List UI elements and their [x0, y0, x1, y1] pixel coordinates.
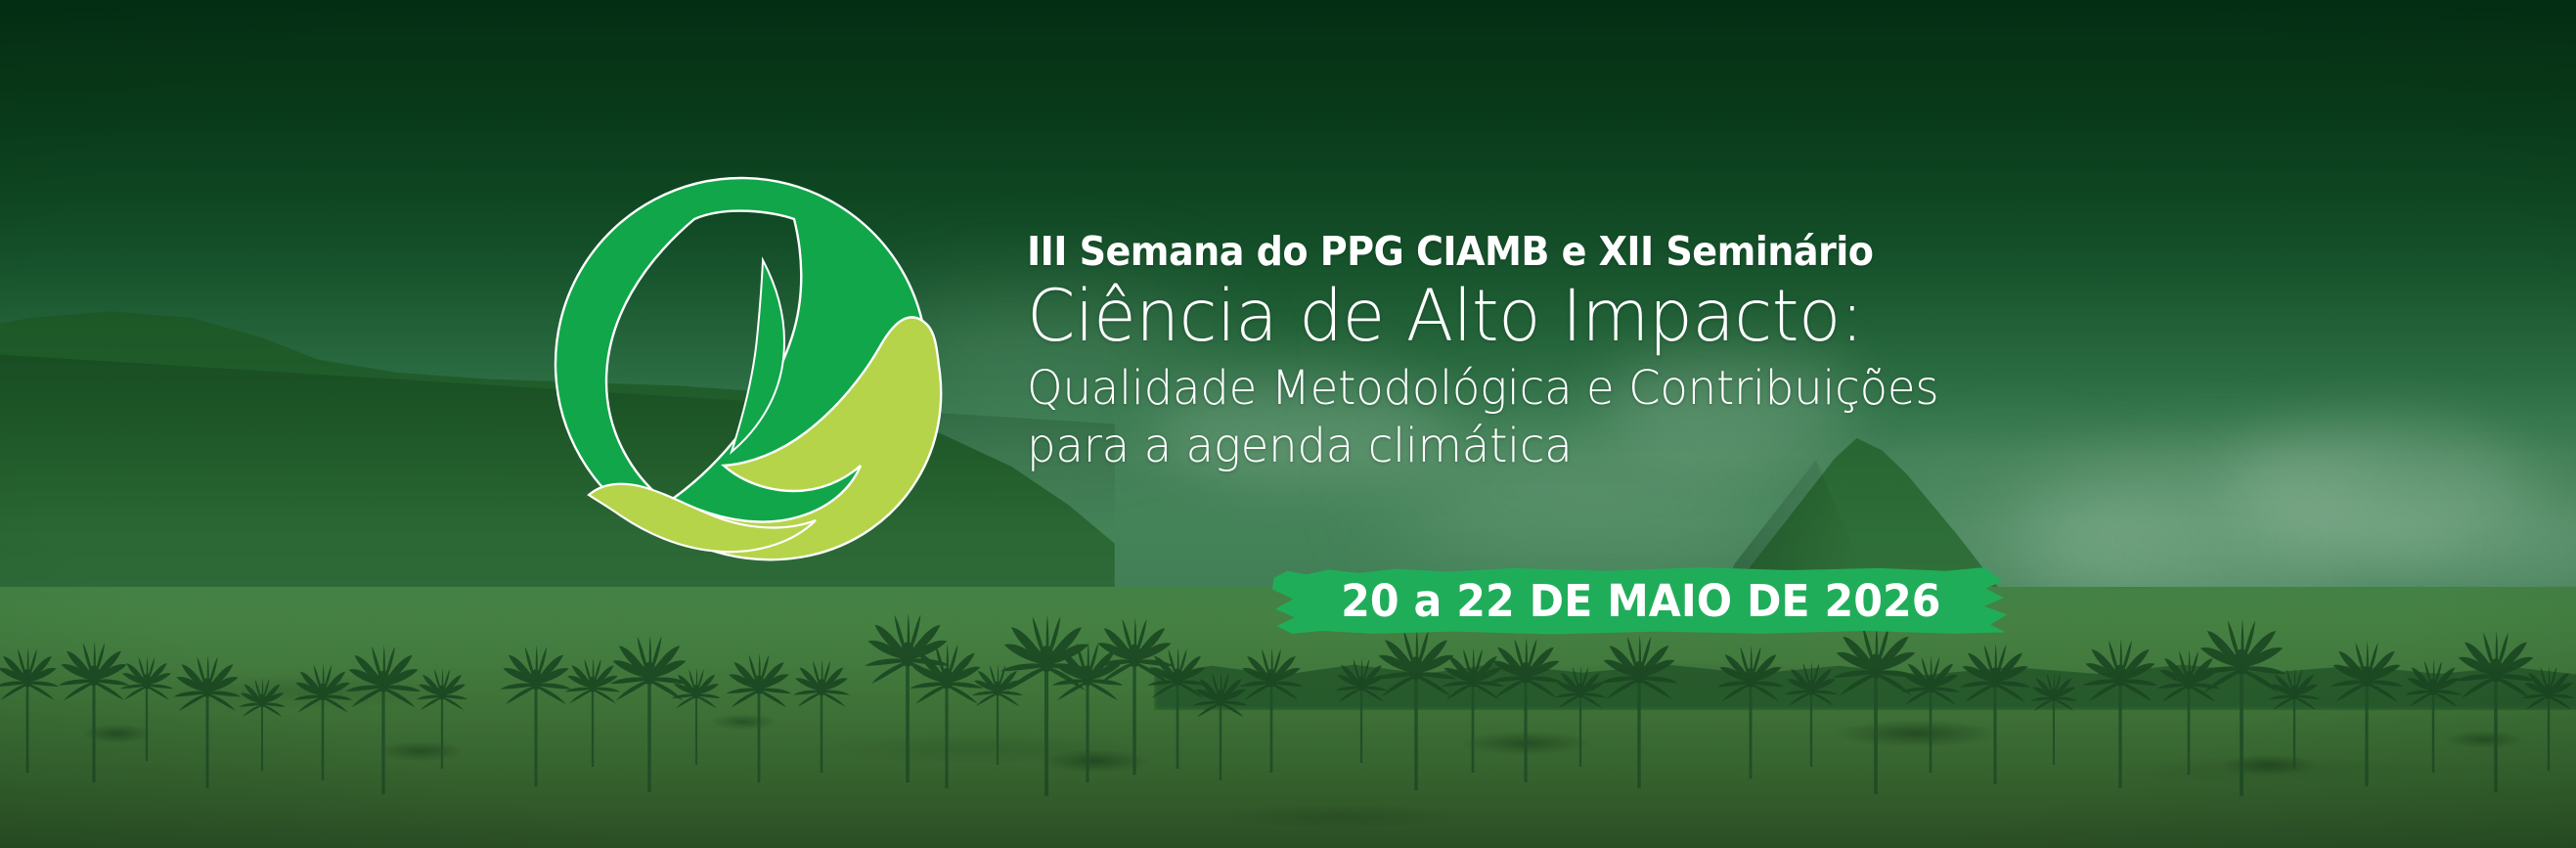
- event-subtitle: Qualidade Metodológica e Contribuições p…: [1027, 360, 1985, 474]
- event-date-ribbon: 20 a 22 DE MAIO DE 2026: [1269, 565, 2013, 636]
- ciamb-logo: [550, 172, 960, 593]
- event-kicker: III Semana do PPG CIAMB e XII Seminário: [1027, 231, 1945, 273]
- page-title: Ciência de Alto Impacto:: [1027, 279, 1985, 354]
- headline-block: III Semana do PPG CIAMB e XII Seminário …: [1027, 231, 2015, 474]
- event-subtitle-line1: Qualidade Metodológica e Contribuições: [1027, 360, 1985, 418]
- event-banner: III Semana do PPG CIAMB e XII Seminário …: [0, 0, 2576, 848]
- event-date-label: 20 a 22 DE MAIO DE 2026: [1341, 575, 1940, 627]
- event-subtitle-line2: para a agenda climática: [1027, 418, 1985, 475]
